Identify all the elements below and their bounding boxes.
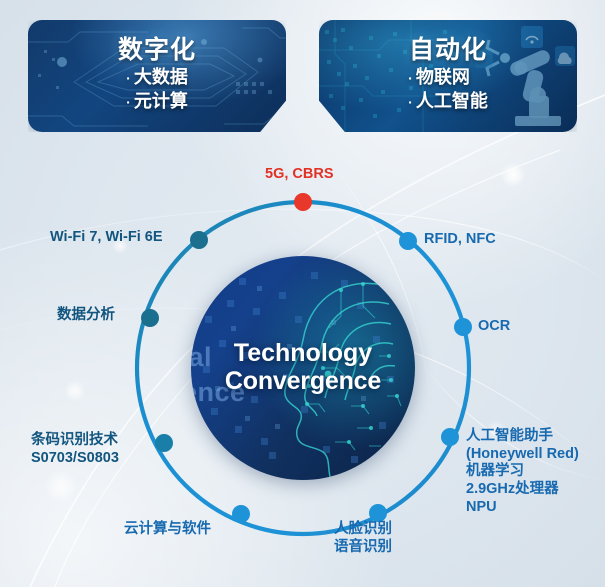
card-digital-bullet-1: ·大数据: [126, 66, 188, 90]
node-label-5g-cbrs[interactable]: 5G, CBRS: [265, 166, 334, 184]
node-label-ai-line-4: 2.9GHz处理器: [466, 481, 579, 499]
node-dot-barcode[interactable]: [155, 434, 173, 452]
node-dot-cloud[interactable]: [232, 505, 250, 523]
node-label-face-recognition: 人脸识别: [334, 521, 392, 539]
node-label-cloud[interactable]: 云计算与软件: [124, 521, 211, 539]
node-label-rfid-nfc[interactable]: RFID, NFC: [424, 231, 496, 249]
node-label-ai-line-5: NPU: [466, 499, 579, 517]
node-dot-ai-assistant[interactable]: [441, 428, 459, 446]
node-dot-5g-cbrs[interactable]: [294, 193, 312, 211]
node-dot-face-voice[interactable]: [369, 504, 387, 522]
node-label-ai-assistant[interactable]: 人工智能助手 (Honeywell Red) 机器学习 2.9GHz处理器 NP…: [466, 428, 579, 516]
node-dot-ocr[interactable]: [454, 318, 472, 336]
node-label-face-voice[interactable]: 人脸识别 语音识别: [334, 521, 392, 556]
card-automation-bullet-2-text: 人工智能: [416, 91, 488, 111]
card-automation-bullet-2: ·人工智能: [408, 90, 488, 114]
technology-convergence-diagram: cial gence Technology Convergence 5G, CB…: [0, 140, 605, 587]
card-digital-bullet-1-text: 大数据: [134, 67, 188, 87]
card-digital[interactable]: 数字化 ·大数据 ·元计算: [28, 20, 286, 132]
node-label-voice-recognition: 语音识别: [334, 539, 392, 557]
card-automation[interactable]: 自动化 ·物联网 ·人工智能: [319, 20, 577, 132]
card-automation-bullet-1-text: 物联网: [416, 67, 470, 87]
bullet-marker: ·: [408, 94, 413, 110]
bullet-marker: ·: [126, 94, 131, 110]
card-automation-title: 自动化: [409, 36, 487, 65]
card-automation-body: 自动化 ·物联网 ·人工智能: [319, 20, 577, 132]
node-dot-wifi[interactable]: [190, 231, 208, 249]
node-label-ai-line-1: 人工智能助手: [466, 428, 579, 446]
card-automation-bullets: ·物联网 ·人工智能: [408, 66, 488, 114]
infographic-canvas: 数字化 ·大数据 ·元计算: [0, 0, 605, 587]
node-label-ocr[interactable]: OCR: [478, 318, 510, 336]
card-digital-title: 数字化: [118, 36, 196, 65]
node-dot-rfid-nfc[interactable]: [399, 232, 417, 250]
node-label-barcode-line-2: S0703/S0803: [31, 450, 119, 468]
node-label-ai-line-3: 机器学习: [466, 463, 579, 481]
node-label-wifi[interactable]: Wi-Fi 7, Wi-Fi 6E: [50, 229, 163, 247]
node-label-ai-line-2: (Honeywell Red): [466, 446, 579, 464]
node-label-barcode-line-1: 条码识别技术: [31, 432, 119, 450]
card-automation-bullet-1: ·物联网: [408, 66, 488, 90]
bullet-marker: ·: [126, 70, 131, 86]
hub-title-line-2: Convergence: [191, 367, 415, 395]
hub-title-line-1: Technology: [191, 339, 415, 367]
node-dot-data-analysis[interactable]: [141, 309, 159, 327]
card-digital-body: 数字化 ·大数据 ·元计算: [28, 20, 286, 132]
card-digital-bullet-2-text: 元计算: [134, 91, 188, 111]
bullet-marker: ·: [408, 70, 413, 86]
node-label-barcode[interactable]: 条码识别技术 S0703/S0803: [31, 432, 119, 467]
card-digital-bullets: ·大数据 ·元计算: [126, 66, 188, 114]
hub-title: Technology Convergence: [191, 339, 415, 395]
card-digital-bullet-2: ·元计算: [126, 90, 188, 114]
node-label-data-analysis[interactable]: 数据分析: [57, 307, 115, 325]
